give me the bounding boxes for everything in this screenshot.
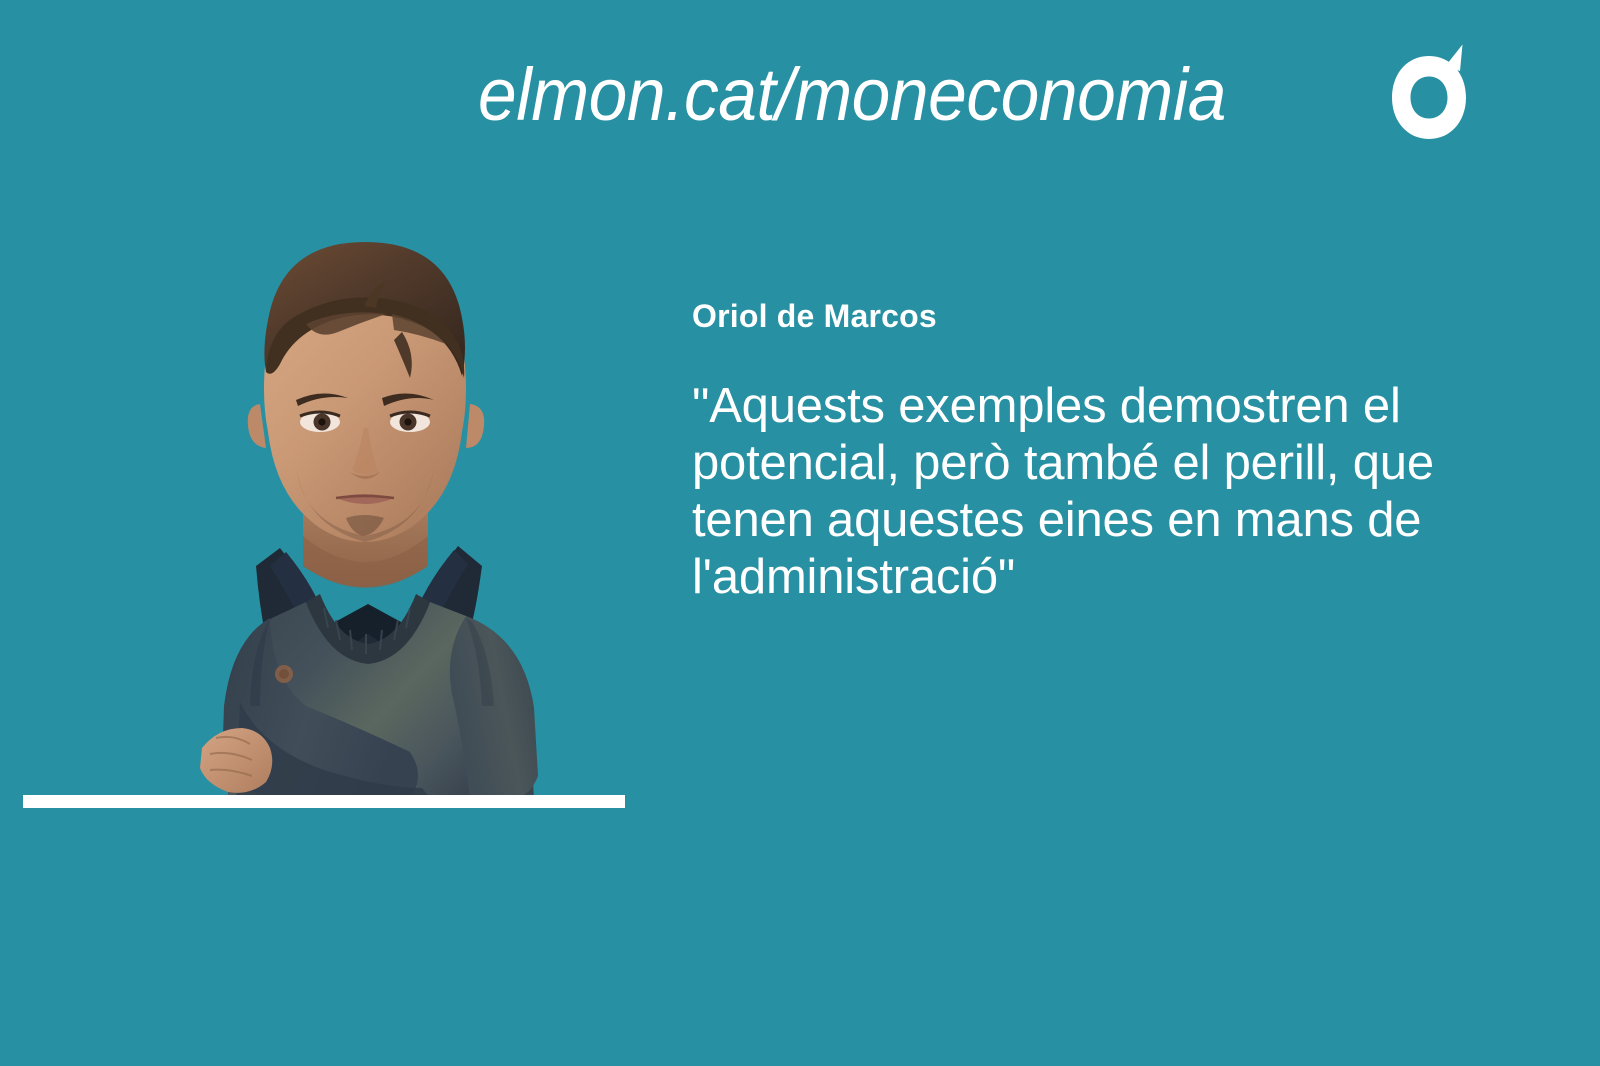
site-url-text: elmon.cat/moneconomia bbox=[478, 52, 1226, 138]
quote-line: potencial, però també el perill, que bbox=[692, 435, 1462, 492]
quote-line: tenen aquestes eines en mans de bbox=[692, 492, 1462, 549]
white-accent-rule bbox=[23, 795, 625, 808]
quote-text: "Aquests exemples demostren el potencial… bbox=[692, 336, 1462, 606]
portrait-container bbox=[110, 236, 620, 798]
quote-text-block: Oriol de Marcos "Aquests exemples demost… bbox=[692, 296, 1462, 606]
quote-line: l'administració" bbox=[692, 549, 1462, 606]
quote-line: "Aquests exemples demostren el bbox=[692, 378, 1462, 435]
person-portrait-photo-icon bbox=[110, 236, 620, 798]
quote-card-graphic: elmon.cat/moneconomia bbox=[0, 0, 1600, 1066]
elmon-speech-bubble-logo-icon bbox=[1390, 42, 1468, 154]
speaker-name: Oriol de Marcos bbox=[692, 296, 1462, 336]
